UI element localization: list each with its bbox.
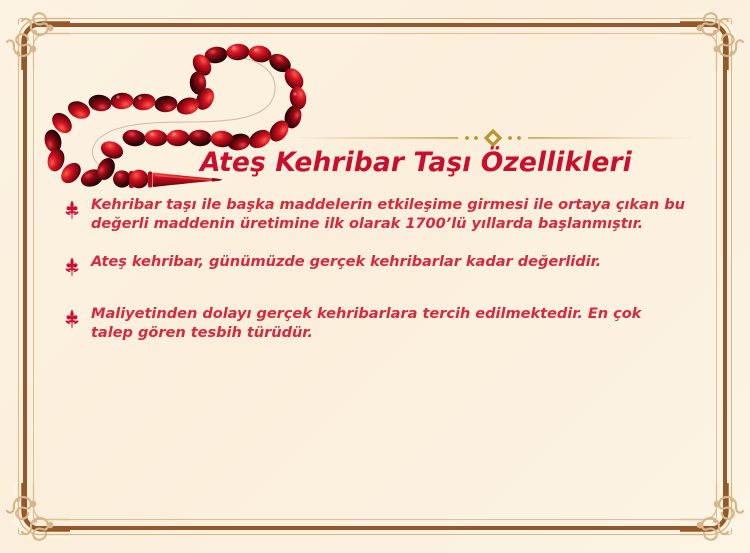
fleur-de-lis-icon [62, 256, 82, 278]
list-item: Kehribar taşı ile başka maddelerin etkil… [62, 196, 687, 234]
corner-arc-bottom-right [680, 483, 736, 539]
page-title: Ateş Kehribar Taşı Özellikleri [200, 148, 700, 177]
gold-diamond-divider [292, 131, 694, 145]
list-item-text: Kehribar taşı ile başka maddelerin etkil… [91, 196, 687, 234]
corner-flourish-top-right [666, 6, 744, 84]
list-item: Maliyetinden dolayı gerçek kehribarlara … [62, 305, 687, 343]
features-list: Kehribar taşı ile başka maddelerin etkil… [62, 196, 687, 343]
fleur-de-lis-icon [62, 308, 82, 330]
corner-arc-top-left [14, 14, 70, 70]
list-item: Ateş kehribar, günümüzde gerçek kehribar… [62, 253, 687, 278]
certificate-canvas: Ateş Kehribar Taşı Özellikleri Kehribar … [0, 0, 750, 553]
corner-arc-top-right [680, 14, 736, 70]
corner-flourish-bottom-right [666, 469, 744, 547]
list-item-text: Maliyetinden dolayı gerçek kehribarlara … [91, 305, 687, 343]
corner-arc-bottom-left [14, 483, 70, 539]
corner-flourish-top-left [6, 6, 84, 84]
list-item-text: Ateş kehribar, günümüzde gerçek kehribar… [91, 253, 687, 272]
fleur-de-lis-icon [62, 199, 82, 221]
corner-flourish-bottom-left [6, 469, 84, 547]
